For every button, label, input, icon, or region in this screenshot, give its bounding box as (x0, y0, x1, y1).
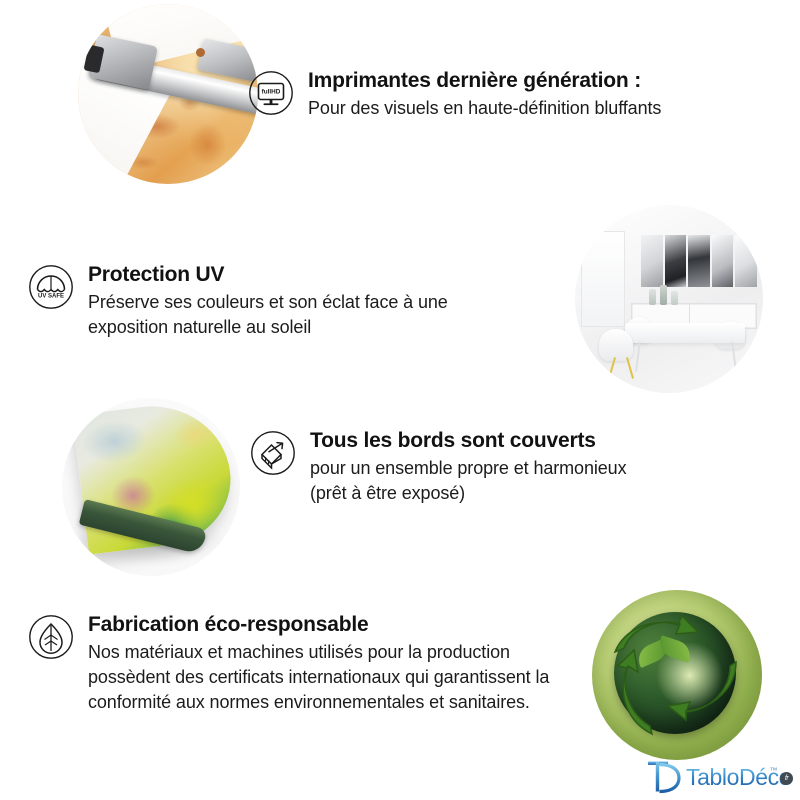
art-panel (735, 235, 757, 287)
uv-safe-label: UV SAFE (38, 294, 64, 300)
dining-table (625, 323, 745, 343)
uv-safe-umbrella-icon: UV SAFE (28, 264, 74, 310)
art-panel (665, 235, 687, 287)
green-earth-recycling-photo (592, 590, 762, 760)
print-nozzle-dot (196, 48, 205, 57)
feature-eco-manufacturing: Fabrication éco-responsable Nos matériau… (28, 612, 588, 715)
feature-printers-title: Imprimantes dernière génération : (308, 68, 768, 94)
feature-eco-texts: Fabrication éco-responsable Nos matériau… (88, 612, 588, 715)
feature-edges-body-line1: pour un ensemble propre et harmonieux (310, 456, 730, 481)
feature-eco-title: Fabrication éco-responsable (88, 612, 588, 638)
fullhd-monitor-icon: fullHD (248, 70, 294, 116)
feature-uv-body: Préserve ses couleurs et son éclat face … (88, 290, 528, 340)
feature-edges-body-line2: (prêt à être exposé) (310, 481, 730, 506)
art-panel (688, 235, 710, 287)
vase (671, 291, 678, 305)
window (581, 231, 625, 327)
printer-head-on-map-print-photo (78, 4, 258, 184)
feature-sheet: fullHD Imprimantes dernière génération :… (0, 0, 800, 800)
vase (660, 285, 667, 305)
table-legs (635, 342, 737, 372)
fullhd-label: fullHD (262, 89, 281, 96)
feature-covered-edges: Tous les bords sont couverts pour un ens… (250, 428, 730, 506)
art-panel (641, 235, 663, 287)
chair-legs (609, 357, 635, 379)
feature-edges-texts: Tous les bords sont couverts pour un ens… (310, 428, 730, 506)
colorful-canvas-corner-photo (62, 398, 240, 576)
feature-edges-title: Tous les bords sont couverts (310, 428, 730, 454)
art-panel (712, 235, 734, 287)
trademark-symbol: ™ (769, 767, 777, 775)
white-dining-room-wall-art-photo (575, 205, 763, 393)
locale-badge: fr (780, 772, 793, 785)
feature-printers-body: Pour des visuels en haute-définition blu… (308, 96, 768, 121)
leaf-icon (28, 614, 74, 660)
feature-eco-body: Nos matériaux et machines utilisés pour … (88, 640, 588, 715)
feature-printers: fullHD Imprimantes dernière génération :… (248, 68, 768, 121)
feature-uv-texts: Protection UV Préserve ses couleurs et s… (88, 262, 528, 340)
feature-uv-title: Protection UV (88, 262, 528, 288)
feature-printers-texts: Imprimantes dernière génération : Pour d… (308, 68, 768, 121)
multi-panel-wall-art (641, 235, 757, 287)
logo-wordmark: TabloDéco ™ fr (686, 766, 791, 789)
tablodeco-logo[interactable]: TabloDéco ™ fr (646, 758, 792, 796)
td-monogram-icon (646, 760, 682, 794)
feature-uv-protection: UV SAFE Protection UV Préserve ses coule… (28, 262, 528, 340)
vase (649, 289, 656, 305)
wrapped-canvas-edge-icon (250, 430, 296, 476)
recycling-arrows-icon (606, 604, 744, 742)
